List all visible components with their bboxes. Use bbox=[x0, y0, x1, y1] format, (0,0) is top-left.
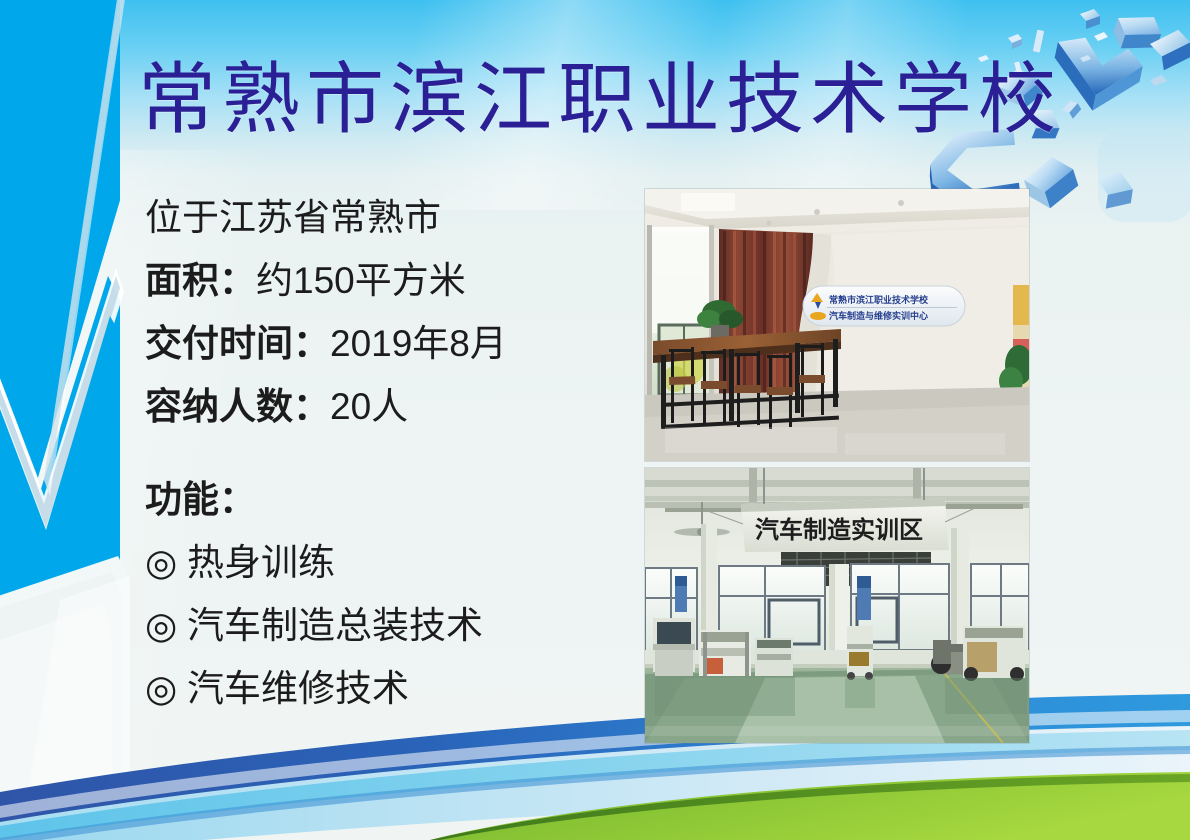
location-line: 位于江苏省常熟市 bbox=[145, 186, 615, 249]
photo-training-center-lounge: 常熟市滨江职业技术学校 汽车制造与维修实训中心 bbox=[645, 189, 1029, 461]
function-item-2-label: 汽车制造总装技术 bbox=[187, 605, 483, 646]
function-item-1-label: 热身训练 bbox=[187, 542, 335, 583]
photo-auto-manufacturing-workshop: 汽车制造实训区 bbox=[645, 468, 1029, 743]
svg-text:常熟市滨江职业技术学校: 常熟市滨江职业技术学校 bbox=[829, 294, 929, 305]
function-item-3-label: 汽车维修技术 bbox=[187, 668, 409, 709]
info-label-capacity: 容纳人数： bbox=[145, 386, 330, 427]
info-row-area: 面积：约150平方米 bbox=[145, 249, 615, 312]
svg-text:汽车制造与维修实训中心: 汽车制造与维修实训中心 bbox=[829, 310, 928, 321]
info-value-capacity: 20人 bbox=[330, 386, 408, 427]
info-label-area: 面积： bbox=[145, 260, 256, 301]
function-item-1: ◎热身训练 bbox=[145, 531, 615, 594]
function-item-3: ◎汽车维修技术 bbox=[145, 657, 615, 720]
info-label-delivery: 交付时间： bbox=[145, 323, 330, 364]
bullet-glyph-icon: ◎ bbox=[145, 657, 187, 720]
presentation-slide: 常熟市滨江职业技术学校 位于江苏省常熟市 面积：约150平方米 交付时间：201… bbox=[0, 0, 1190, 840]
info-value-area: 约150平方米 bbox=[256, 260, 466, 301]
info-row-delivery: 交付时间：2019年8月 bbox=[145, 312, 615, 375]
bullet-glyph-icon: ◎ bbox=[145, 531, 187, 594]
svg-text:汽车制造实训区: 汽车制造实训区 bbox=[755, 516, 923, 544]
function-item-2: ◎汽车制造总装技术 bbox=[145, 594, 615, 657]
slide-title: 常熟市滨江职业技术学校 bbox=[138, 48, 1098, 152]
bullet-glyph-icon: ◎ bbox=[145, 594, 187, 657]
info-column: 位于江苏省常熟市 面积：约150平方米 交付时间：2019年8月 容纳人数：20… bbox=[145, 186, 615, 720]
info-row-capacity: 容纳人数：20人 bbox=[145, 375, 615, 438]
info-value-delivery: 2019年8月 bbox=[330, 323, 507, 364]
functions-heading: 功能： bbox=[145, 468, 615, 531]
